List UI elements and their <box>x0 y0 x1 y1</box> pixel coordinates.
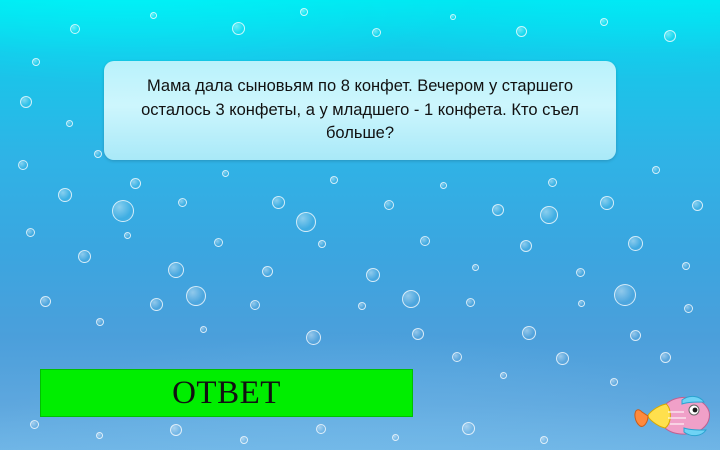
slide: Мама дала сыновьям по 8 конфет. Вечером … <box>0 0 720 450</box>
answer-button-label: ОТВЕТ <box>172 375 281 412</box>
answer-button[interactable]: ОТВЕТ <box>40 369 413 417</box>
question-text: Мама дала сыновьям по 8 конфет. Вечером … <box>114 75 606 147</box>
question-textbox: Мама дала сыновьям по 8 конфет. Вечером … <box>104 61 616 160</box>
fish-icon <box>632 386 716 448</box>
